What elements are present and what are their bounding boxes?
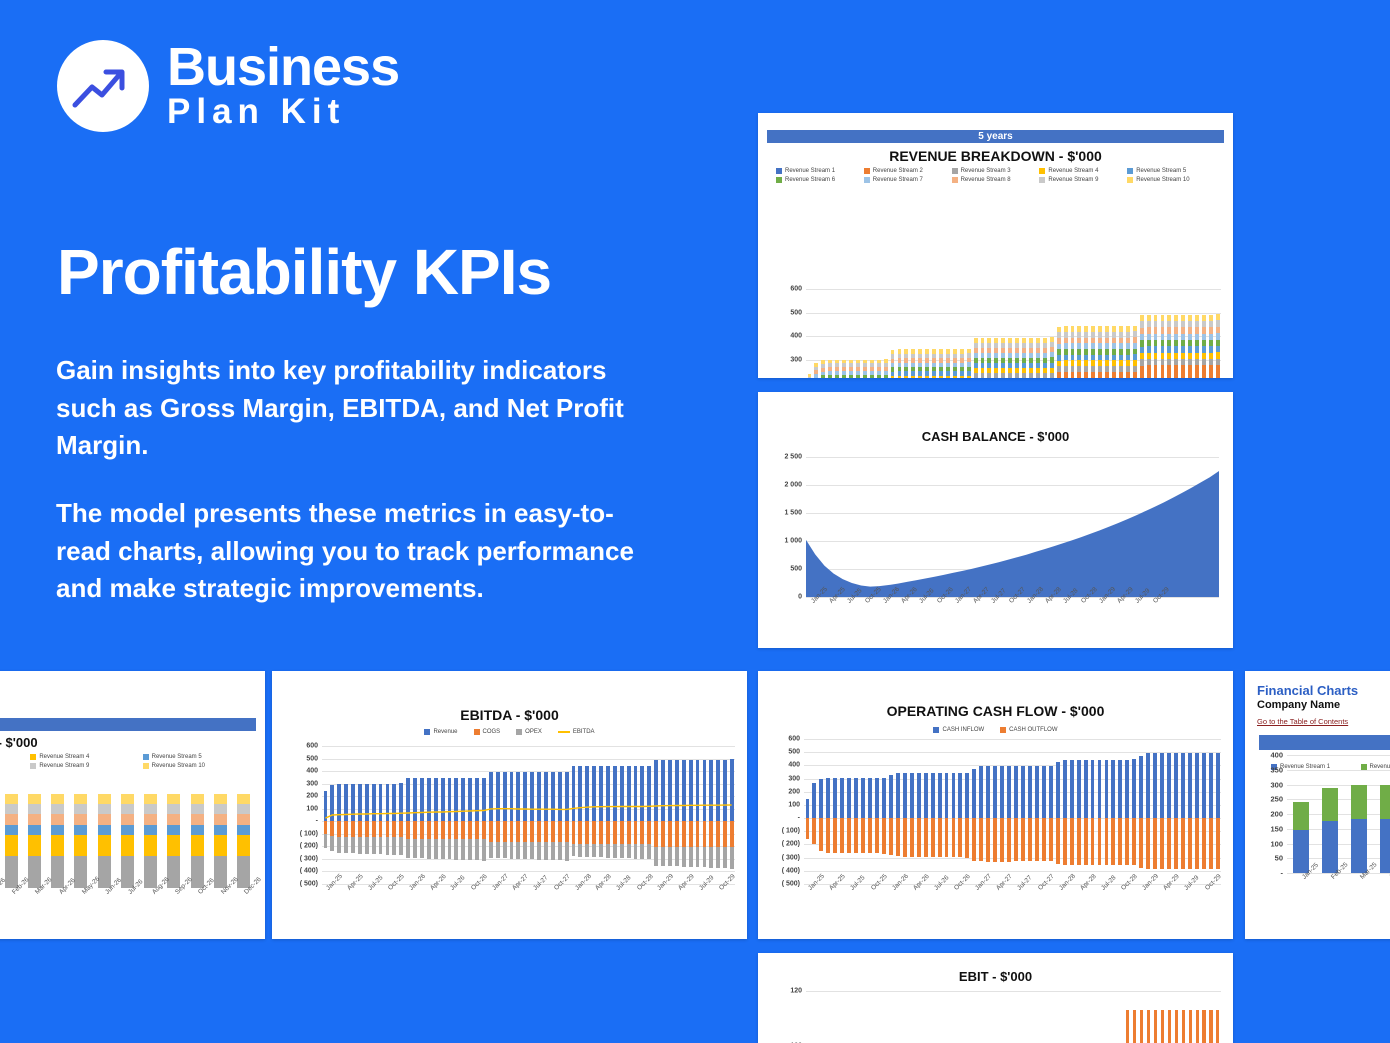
bar-column xyxy=(894,739,901,884)
bar-series xyxy=(804,739,1221,884)
bar-segment xyxy=(1112,372,1116,378)
bar-segment xyxy=(121,825,134,835)
bar-column xyxy=(1345,755,1374,873)
bar-segment xyxy=(237,856,250,888)
bar-segment xyxy=(74,804,87,814)
bar-column xyxy=(868,289,875,378)
hero-paragraph-2: The model presents these metrics in easy… xyxy=(56,495,656,608)
y-axis-label: - xyxy=(1281,869,1284,878)
bar-negative xyxy=(1063,818,1067,865)
bar-column xyxy=(1028,289,1035,378)
bar-segment xyxy=(1133,372,1137,378)
bar-segment xyxy=(1133,1010,1136,1043)
bar-column xyxy=(827,991,834,1043)
bar-column xyxy=(827,289,834,378)
bar-column xyxy=(1179,739,1186,884)
legend-swatch-icon xyxy=(424,729,430,735)
bar-column xyxy=(924,289,931,378)
bar-column xyxy=(1040,739,1047,884)
bar-negative xyxy=(1035,818,1039,861)
y-axis-label: 400 xyxy=(788,762,800,769)
bar-positive xyxy=(1160,753,1164,818)
bar-segment xyxy=(5,825,18,835)
legend-item: Revenue Stream 5 xyxy=(143,754,255,760)
bar-column xyxy=(875,289,882,378)
bar-column xyxy=(889,991,896,1043)
legend-label: Revenue Stream 5 xyxy=(1136,168,1186,174)
bar-column xyxy=(999,739,1006,884)
bar-column xyxy=(1034,991,1041,1043)
bar-column xyxy=(1138,991,1145,1043)
bar-segment xyxy=(925,376,929,378)
legend-item: CASH OUTFLOW xyxy=(1000,727,1057,733)
bar-column xyxy=(903,289,910,378)
bar-segment xyxy=(1380,819,1390,873)
bar-column xyxy=(1097,991,1104,1043)
bar-segment xyxy=(1189,1010,1192,1043)
bar-column xyxy=(1159,739,1166,884)
y-axis-label: ( 100) xyxy=(782,828,800,835)
bar-positive xyxy=(840,778,844,818)
bar-column xyxy=(811,739,818,884)
table-of-contents-link[interactable]: Go to the Table of Contents xyxy=(1257,717,1348,726)
bar-negative xyxy=(1188,818,1192,869)
legend-swatch-icon xyxy=(1127,177,1133,183)
bar-column xyxy=(1096,739,1103,884)
bar-column xyxy=(854,289,861,378)
bar-column xyxy=(964,739,971,884)
bar-column xyxy=(993,991,1000,1043)
bar-positive xyxy=(1098,760,1102,818)
bar-column xyxy=(958,991,965,1043)
legend-item: CASH INFLOW xyxy=(933,727,984,733)
bar-column xyxy=(1186,739,1193,884)
bar-segment xyxy=(1188,365,1192,378)
bar-segment xyxy=(191,794,204,804)
bar-negative xyxy=(1181,818,1185,869)
bar-column xyxy=(1021,991,1028,1043)
bar-negative xyxy=(986,818,990,862)
bar-segment xyxy=(237,825,250,835)
bar-segment xyxy=(191,835,204,856)
legend-label: Revenue Stream 9 xyxy=(1048,177,1098,183)
bar-positive xyxy=(1042,766,1046,818)
legend-label: Revenue Stream 4 xyxy=(39,754,89,760)
bar-positive xyxy=(1021,766,1025,818)
trend-line xyxy=(322,746,735,884)
financial-charts-header: Financial Charts Company Name Go to the … xyxy=(1245,671,1390,729)
bar-positive xyxy=(993,766,997,818)
bar-column xyxy=(825,739,832,884)
legend-swatch-icon xyxy=(474,729,480,735)
bar-column xyxy=(979,991,986,1043)
bar-column xyxy=(1214,739,1221,884)
cash-area xyxy=(806,457,1219,597)
legend-swatch-icon xyxy=(30,763,36,769)
bar-column xyxy=(1083,991,1090,1043)
bar-positive xyxy=(1195,753,1199,818)
bar-negative xyxy=(1049,818,1053,861)
bar-negative xyxy=(1077,818,1081,865)
bar-segment xyxy=(828,375,832,378)
bar-segment xyxy=(849,375,853,378)
bar-segment xyxy=(121,856,134,888)
bar-column xyxy=(1076,289,1083,378)
bar-positive xyxy=(931,773,935,818)
bar-positive xyxy=(868,778,872,818)
bar-segment xyxy=(1064,372,1068,378)
bar-column xyxy=(874,739,881,884)
bar-column xyxy=(880,739,887,884)
legend-label: EBITDA xyxy=(573,729,595,735)
bar-column xyxy=(1062,991,1069,1043)
bar-negative xyxy=(1070,818,1074,865)
bar-negative xyxy=(958,818,962,857)
legend-item: Revenue Stream 5 xyxy=(1127,168,1215,174)
bar-column xyxy=(1006,739,1013,884)
bar-column xyxy=(1187,289,1194,378)
legend-swatch-icon xyxy=(952,168,958,174)
bar-column xyxy=(1054,739,1061,884)
bar-negative xyxy=(861,818,865,853)
bar-column xyxy=(1131,739,1138,884)
bar-column xyxy=(1007,991,1014,1043)
y-axis-label: 500 xyxy=(790,309,802,316)
bar-positive xyxy=(1181,753,1185,818)
bar-segment xyxy=(1322,788,1338,821)
bar-column xyxy=(986,289,993,378)
legend-label: Revenue xyxy=(433,729,457,735)
bar-column xyxy=(116,792,139,888)
bar-segment xyxy=(74,856,87,888)
bar-segment xyxy=(144,804,157,814)
bar-column xyxy=(1180,991,1187,1043)
bar-column xyxy=(931,289,938,378)
bar-segment xyxy=(932,376,936,378)
bar-column xyxy=(813,289,820,378)
bar-negative xyxy=(993,818,997,862)
bar-negative xyxy=(833,818,837,853)
y-axis-label: 400 xyxy=(1270,751,1283,760)
card-ebitda[interactable]: EBITDA - $'000 RevenueCOGSOPEXEBITDA 600… xyxy=(272,671,747,939)
card-financial-charts-panel[interactable]: Financial Charts Company Name Go to the … xyxy=(1245,671,1390,939)
bar-negative xyxy=(1042,818,1046,861)
bar-segment xyxy=(821,375,825,378)
bar-column xyxy=(1131,289,1138,378)
bar-column xyxy=(848,289,855,378)
bar-segment xyxy=(167,794,180,804)
legend-label: Revenue Stream 9 xyxy=(39,763,89,769)
bar-negative xyxy=(840,818,844,853)
bar-column xyxy=(917,289,924,378)
bar-positive xyxy=(833,778,837,818)
bar-column xyxy=(1152,289,1159,378)
bar-segment xyxy=(167,835,180,856)
bar-column xyxy=(1055,289,1062,378)
bar-series xyxy=(806,289,1221,378)
bar-segment xyxy=(214,825,227,835)
bar-negative xyxy=(1195,818,1199,869)
bar-positive xyxy=(910,773,914,818)
legend-item: Revenue Stream 10 xyxy=(1127,177,1215,183)
bar-column xyxy=(978,739,985,884)
bar-segment xyxy=(1154,1010,1157,1043)
bar-column xyxy=(1131,991,1138,1043)
bar-column xyxy=(1124,289,1131,378)
bar-segment xyxy=(144,835,157,856)
ebitda-chart-title: EBITDA - $'000 xyxy=(272,707,747,723)
bar-segment xyxy=(51,804,64,814)
bar-column xyxy=(1207,991,1214,1043)
card-cash-balance[interactable]: CASH BALANCE - $'000 2 5002 0001 5001 00… xyxy=(758,392,1233,648)
bar-segment xyxy=(98,794,111,804)
bar-column xyxy=(854,991,861,1043)
bar-negative xyxy=(917,818,921,857)
bar-column xyxy=(901,739,908,884)
bar-column xyxy=(861,289,868,378)
bar-column xyxy=(868,991,875,1043)
bar-segment xyxy=(51,814,64,824)
bar-segment xyxy=(121,804,134,814)
bar-positive xyxy=(1028,766,1032,818)
legend-swatch-icon xyxy=(776,168,782,174)
bar-column xyxy=(1028,991,1035,1043)
bar-negative xyxy=(1216,818,1220,869)
y-axis-label: 300 xyxy=(788,775,800,782)
bar-segment xyxy=(1119,372,1123,378)
bar-column xyxy=(832,739,839,884)
bar-negative xyxy=(1111,818,1115,865)
bar-segment xyxy=(98,825,111,835)
bar-column xyxy=(841,289,848,378)
bar-segment xyxy=(1091,372,1095,378)
bar-column xyxy=(46,792,69,888)
y-axis-label: ( 500) xyxy=(300,881,318,888)
bar-positive xyxy=(1056,762,1060,818)
hero-paragraph-1: Gain insights into key profitability ind… xyxy=(56,352,656,465)
legend-item: Revenue Stream 3 xyxy=(952,168,1040,174)
bar-positive xyxy=(986,766,990,818)
y-axis-label: 100 xyxy=(788,801,800,808)
y-axis-label: 500 xyxy=(788,749,800,756)
legend-swatch-icon xyxy=(776,177,782,183)
bar-segment xyxy=(28,856,41,888)
bar-column xyxy=(1069,289,1076,378)
y-axis-label: 1 500 xyxy=(784,510,802,517)
bar-segment xyxy=(1126,372,1130,378)
bar-column xyxy=(1117,991,1124,1043)
bar-column xyxy=(1111,289,1118,378)
bar-segment xyxy=(74,814,87,824)
bar-segment xyxy=(877,375,881,378)
bar-segment xyxy=(144,814,157,824)
bar-segment xyxy=(1161,1010,1164,1043)
bar-segment xyxy=(144,856,157,888)
legend-item: Revenue Stream 8 xyxy=(952,177,1040,183)
bar-negative xyxy=(882,818,886,854)
bar-segment xyxy=(870,375,874,378)
bar-positive xyxy=(1188,753,1192,818)
bar-positive xyxy=(1049,766,1053,818)
y-axis-label: 100 xyxy=(306,805,318,812)
bar-column xyxy=(972,991,979,1043)
bar-column xyxy=(944,289,951,378)
bar-segment xyxy=(1140,1010,1143,1043)
bar-column xyxy=(971,739,978,884)
bar-column xyxy=(1138,289,1145,378)
bar-positive xyxy=(1077,760,1081,818)
bar-positive xyxy=(812,783,816,819)
y-axis-label: 300 xyxy=(790,356,802,363)
bar-column xyxy=(1097,289,1104,378)
card-revenue-breakdown-24m[interactable]: 24 months REAKDOWN - $'000 Revenue Strea… xyxy=(0,671,265,939)
brand-name-line2: Plan Kit xyxy=(167,94,399,131)
bar-column xyxy=(1082,739,1089,884)
card-operating-cash-flow[interactable]: OPERATING CASH FLOW - $'000 CASH INFLOWC… xyxy=(758,671,1233,939)
y-axis-label: 500 xyxy=(306,755,318,762)
bar-segment xyxy=(863,375,867,378)
bar-column xyxy=(1062,289,1069,378)
bar-column xyxy=(1014,991,1021,1043)
bar-column xyxy=(834,991,841,1043)
bar-segment xyxy=(946,376,950,378)
bar-negative xyxy=(945,818,949,857)
legend-item: Revenue Stream 9 xyxy=(30,763,142,769)
bar-column xyxy=(910,289,917,378)
bar-segment xyxy=(98,856,111,888)
bar-positive xyxy=(1118,760,1122,818)
bar-column xyxy=(1083,289,1090,378)
bar-column xyxy=(944,991,951,1043)
bar-positive xyxy=(826,778,830,818)
bar-segment xyxy=(967,376,971,378)
bar-column xyxy=(938,289,945,378)
bar-positive xyxy=(1216,753,1220,818)
bar-positive xyxy=(819,779,823,818)
bar-segment xyxy=(1174,365,1178,378)
y-axis-label: 300 xyxy=(306,780,318,787)
bar-segment xyxy=(144,825,157,835)
brand-logo: Business Plan Kit xyxy=(57,40,399,132)
ebitda-plot: 600500400300200100-( 100)( 200)( 300)( 4… xyxy=(322,746,735,884)
bar-column xyxy=(1041,991,1048,1043)
bar-negative xyxy=(965,818,969,858)
legend-label: Revenue Stream 1 xyxy=(785,168,835,174)
bar-column xyxy=(1173,289,1180,378)
bar-column xyxy=(951,289,958,378)
bar-segment xyxy=(1077,372,1081,378)
bar-segment xyxy=(1293,830,1309,873)
y-axis-label: 2 500 xyxy=(784,454,802,461)
card-ebit[interactable]: EBIT - $'000 12010080 xyxy=(758,953,1233,1043)
bar-negative xyxy=(1118,818,1122,865)
bar-column xyxy=(834,289,841,378)
bar-column xyxy=(929,739,936,884)
hero-description: Gain insights into key profitability ind… xyxy=(56,352,656,608)
cash-plot: 2 5002 0001 5001 0005000Jan-25Apr-25Jul-… xyxy=(806,457,1219,597)
bar-column xyxy=(1041,289,1048,378)
bar-negative xyxy=(1209,818,1213,869)
bar-column xyxy=(958,289,965,378)
bar-segment xyxy=(5,804,18,814)
bar-column xyxy=(93,792,116,888)
y-axis-label: ( 200) xyxy=(300,843,318,850)
bar-segment xyxy=(911,376,915,378)
bar-negative xyxy=(1021,818,1025,861)
bar-positive xyxy=(979,766,983,818)
bar-column xyxy=(1048,289,1055,378)
bar-column xyxy=(1117,289,1124,378)
bar-negative xyxy=(1056,818,1060,864)
bar-segment xyxy=(1195,365,1199,378)
bar-column xyxy=(887,739,894,884)
bar-column xyxy=(1173,739,1180,884)
bar-positive xyxy=(965,773,969,819)
legend-label: CASH INFLOW xyxy=(942,727,984,733)
bar-column xyxy=(882,991,889,1043)
legend-label: Revenue Stream 10 xyxy=(152,763,205,769)
bar-positive xyxy=(1007,766,1011,818)
bar-positive xyxy=(958,773,962,818)
bar-segment xyxy=(74,825,87,835)
bar-column xyxy=(972,289,979,378)
bar-column xyxy=(185,792,208,888)
bar-positive xyxy=(1202,753,1206,818)
bar-segment xyxy=(1181,365,1185,378)
revenue24-plot: Nov-25Dec-25Jan-26Feb-26Mar-26Apr-26May-… xyxy=(0,792,255,888)
y-axis-label: 50 xyxy=(1275,854,1283,863)
y-axis-label: ( 300) xyxy=(782,854,800,861)
bar-segment xyxy=(167,804,180,814)
bar-negative xyxy=(889,818,893,855)
bar-column xyxy=(1287,755,1316,873)
bar-column xyxy=(922,739,929,884)
bar-series xyxy=(806,991,1221,1043)
bar-column xyxy=(979,289,986,378)
bar-column xyxy=(993,289,1000,378)
y-axis-label: ( 100) xyxy=(300,830,318,837)
bar-segment xyxy=(237,814,250,824)
bar-column xyxy=(1013,739,1020,884)
gridline xyxy=(804,884,1221,885)
bar-column xyxy=(139,792,162,888)
ocf-plot: 600500400300200100-( 100)( 200)( 300)( 4… xyxy=(804,739,1221,884)
bar-segment xyxy=(51,835,64,856)
bar-segment xyxy=(842,375,846,378)
legend-swatch-icon xyxy=(952,177,958,183)
bar-series xyxy=(1287,755,1390,873)
bar-column xyxy=(1124,991,1131,1043)
legend-label: COGS xyxy=(483,729,501,735)
bar-segment xyxy=(98,804,111,814)
bar-series xyxy=(0,792,255,888)
bar-column xyxy=(896,991,903,1043)
y-axis-label: 600 xyxy=(790,286,802,293)
bar-positive xyxy=(924,773,928,818)
bar-negative xyxy=(1125,818,1129,865)
bar-negative xyxy=(1202,818,1206,869)
bar-column xyxy=(1207,739,1214,884)
bar-segment xyxy=(1154,365,1158,378)
legend-swatch-icon xyxy=(516,729,522,735)
bar-positive xyxy=(1063,760,1067,818)
bar-negative xyxy=(812,818,816,844)
card-revenue-breakdown-5y[interactable]: 5 years REVENUE BREAKDOWN - $'000 Revenu… xyxy=(758,113,1233,378)
bar-positive xyxy=(972,769,976,818)
bar-segment xyxy=(1161,365,1165,378)
bar-segment xyxy=(1216,1010,1219,1043)
bar-column xyxy=(896,289,903,378)
